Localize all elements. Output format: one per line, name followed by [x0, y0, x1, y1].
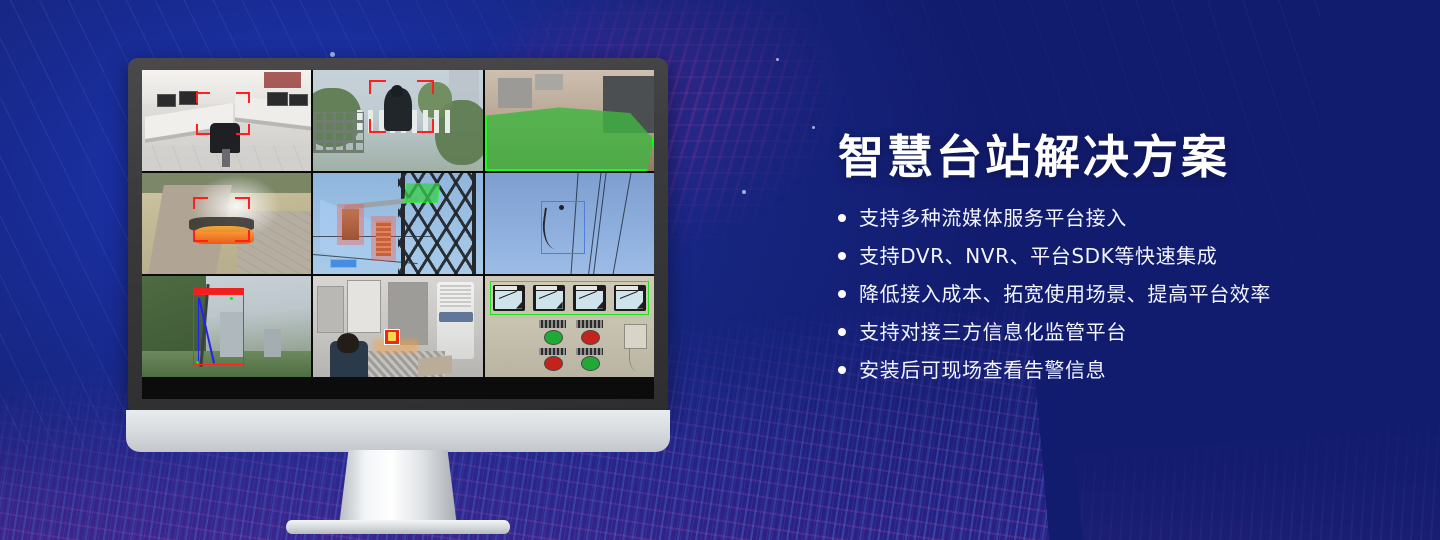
content-panel: 智慧台站解决方案 支持多种流媒体服务平台接入 支持DVR、NVR、平台SDK等快…	[838, 132, 1398, 396]
monitor-stand-neck	[339, 450, 457, 526]
tile1-pc-monitor	[289, 94, 308, 106]
feature-text: 支持多种流媒体服务平台接入	[859, 206, 1127, 230]
panel-meter	[573, 285, 605, 311]
video-tile-pole-tilt[interactable]	[142, 276, 311, 377]
tile1-pc-monitor	[179, 91, 198, 105]
tile3-structure	[498, 78, 532, 108]
video-tile-office-interior[interactable]	[142, 70, 311, 171]
panel-indicator-green[interactable]	[544, 330, 563, 345]
detection-box-green-meters	[490, 281, 649, 315]
tile7-building	[264, 329, 281, 357]
panel-button-label	[576, 348, 603, 355]
video-tile-equipment-room[interactable]	[313, 276, 482, 377]
tile1-red-panel	[264, 72, 301, 88]
monitor-lower-bezel	[126, 410, 670, 452]
tile1-pc-monitor	[267, 92, 287, 106]
video-tile-fence-intrusion[interactable]	[313, 70, 482, 171]
tile1-chair-leg	[222, 149, 230, 167]
tile8-ac-band	[439, 312, 473, 322]
tile5-insulator-masked	[376, 221, 391, 255]
monitor-screen-chin	[142, 377, 654, 399]
list-item: 支持对接三方信息化监管平台	[838, 320, 1398, 344]
tile8-carton	[418, 355, 452, 377]
detection-bracket-red	[193, 197, 251, 241]
video-wall-grid	[142, 70, 654, 377]
tile5-tower-leg	[472, 173, 476, 274]
panel-button-label	[576, 320, 603, 327]
tile5-wire	[313, 236, 432, 237]
video-tile-transmission-tower[interactable]	[313, 173, 482, 274]
desktop-monitor	[128, 58, 668, 490]
tile7-reference-axis	[198, 298, 200, 363]
tile8-rack	[347, 280, 381, 333]
feature-text: 降低接入成本、拓宽使用场景、提高平台效率	[859, 282, 1271, 306]
tile8-ac-vent	[440, 285, 470, 307]
tile3-structure	[535, 74, 562, 90]
list-item: 支持多种流媒体服务平台接入	[838, 206, 1398, 230]
monitor-stand-base	[286, 520, 510, 534]
tile8-cabinet	[317, 286, 344, 332]
video-tile-yard-region[interactable]	[485, 70, 654, 171]
panel-indicator-red[interactable]	[544, 356, 563, 371]
tile1-pc-monitor	[157, 94, 176, 107]
video-tile-control-panel[interactable]	[485, 276, 654, 377]
panel-indicator-green[interactable]	[581, 356, 600, 371]
feature-text: 支持DVR、NVR、平台SDK等快速集成	[859, 244, 1217, 268]
banner-stage: 智慧台站解决方案 支持多种流媒体服务平台接入 支持DVR、NVR、平台SDK等快…	[0, 0, 1440, 540]
detection-bracket-red	[196, 92, 250, 134]
list-item: 安装后可现场查看告警信息	[838, 358, 1398, 382]
bullet-dot-icon	[838, 290, 846, 298]
tile6-power-line	[609, 173, 635, 274]
video-tile-line-foreign-object[interactable]	[485, 173, 654, 274]
tile2-gate	[313, 112, 364, 152]
panel-meter	[533, 285, 565, 311]
panel-meter	[614, 285, 646, 311]
detection-bracket-red	[369, 80, 433, 133]
feature-list: 支持多种流媒体服务平台接入 支持DVR、NVR、平台SDK等快速集成 降低接入成…	[838, 206, 1398, 382]
page-title: 智慧台站解决方案	[838, 132, 1398, 184]
alert-marker-red	[384, 329, 399, 345]
tile5-tower-leg	[401, 173, 404, 274]
video-tile-fire-smoke[interactable]	[142, 173, 311, 274]
panel-button-label	[539, 348, 566, 355]
panel-button-label	[539, 320, 566, 327]
bullet-dot-icon	[838, 214, 846, 222]
tile5-insulator-masked	[342, 209, 359, 239]
segmentation-mask-blue	[330, 259, 357, 268]
panel-phone-box	[624, 324, 648, 348]
panel-indicator-red[interactable]	[581, 330, 600, 345]
bullet-dot-icon	[838, 366, 846, 374]
segmentation-mask-green	[404, 183, 440, 203]
tile8-person-head	[337, 333, 359, 353]
feature-text: 支持对接三方信息化监管平台	[859, 320, 1127, 344]
panel-meter	[493, 285, 525, 311]
panel-phone-cord	[629, 349, 643, 371]
bullet-dot-icon	[838, 252, 846, 260]
feature-text: 安装后可现场查看告警信息	[859, 358, 1106, 382]
detection-box-blue	[541, 201, 585, 254]
list-item: 支持DVR、NVR、平台SDK等快速集成	[838, 244, 1398, 268]
monitor-screen	[142, 70, 654, 377]
bullet-dot-icon	[838, 328, 846, 336]
list-item: 降低接入成本、拓宽使用场景、提高平台效率	[838, 282, 1398, 306]
